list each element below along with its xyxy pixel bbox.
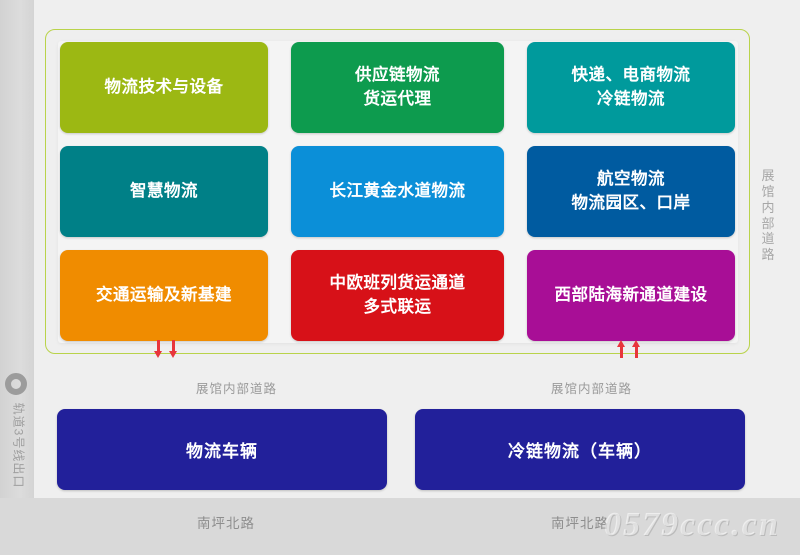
- booth-grid: 物流技术与设备 供应链物流 货运代理 快递、电商物流 冷链物流 智慧物流 长江黄…: [60, 42, 735, 342]
- booth-air-logistics-park-port[interactable]: 航空物流 物流园区、口岸: [527, 146, 735, 237]
- arrow-down-icon: [169, 340, 178, 358]
- inner-road-label-right: 展馆内部道路: [551, 378, 632, 397]
- vertical-char: 馆: [760, 184, 778, 200]
- booth-china-europe-rail-multimodal[interactable]: 中欧班列货运通道 多式联运: [291, 250, 504, 341]
- vertical-char: 道: [760, 231, 778, 247]
- south-road-label-left: 南坪北路: [197, 512, 255, 532]
- vehicle-booth-row: 物流车辆 冷链物流（车辆）: [57, 409, 745, 490]
- inner-road-arrows-left: [154, 340, 178, 358]
- inner-road-label-left: 展馆内部道路: [196, 378, 277, 397]
- booth-smart-logistics[interactable]: 智慧物流: [60, 146, 268, 237]
- arrow-down-icon: [154, 340, 163, 358]
- metro-exit-label: 轨道3号线出口: [11, 401, 28, 491]
- metro-circle-icon: [5, 373, 27, 395]
- booth-western-land-sea-corridor[interactable]: 西部陆海新通道建设: [527, 250, 735, 341]
- arrow-up-icon: [617, 340, 626, 358]
- booth-coldchain-vehicles[interactable]: 冷链物流（车辆）: [415, 409, 745, 490]
- vertical-char: 展: [760, 168, 778, 184]
- map-canvas: 物流技术与设备 供应链物流 货运代理 快递、电商物流 冷链物流 智慧物流 长江黄…: [0, 0, 800, 555]
- vertical-char: 部: [760, 216, 778, 232]
- arrow-up-icon: [632, 340, 641, 358]
- watermark: 0579ccc.cn: [604, 506, 780, 544]
- south-road-label-right: 南坪北路: [551, 512, 609, 532]
- booth-logistics-tech-equipment[interactable]: 物流技术与设备: [60, 42, 268, 133]
- booth-express-ecommerce-coldchain[interactable]: 快递、电商物流 冷链物流: [527, 42, 735, 133]
- vertical-char: 内: [760, 200, 778, 216]
- vertical-char: 路: [760, 247, 778, 263]
- booth-logistics-vehicles[interactable]: 物流车辆: [57, 409, 387, 490]
- inner-road-label-vertical-right: 展馆内部道路: [760, 168, 778, 263]
- inner-road-arrows-right: [617, 340, 641, 358]
- booth-transport-new-infrastructure[interactable]: 交通运输及新基建: [60, 250, 268, 341]
- booth-yangtze-waterway[interactable]: 长江黄金水道物流: [291, 146, 504, 237]
- booth-supply-chain-freight[interactable]: 供应链物流 货运代理: [291, 42, 504, 133]
